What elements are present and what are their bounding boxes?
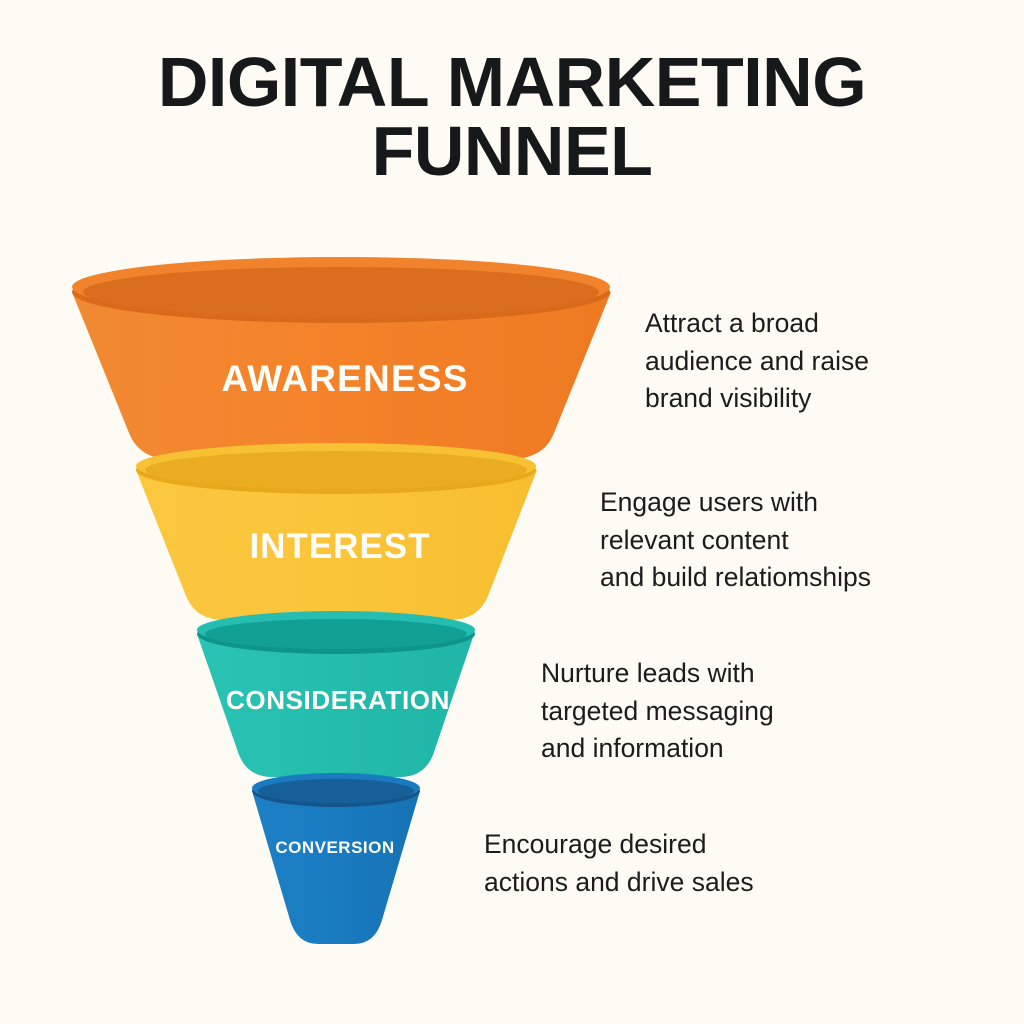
funnel-description-awareness: Attract a broad audience and raise brand… bbox=[645, 305, 975, 418]
description-line: and information bbox=[541, 730, 891, 768]
funnel-stage-consideration[interactable] bbox=[197, 611, 475, 777]
funnel-description-consideration: Nurture leads with targeted messaging an… bbox=[541, 655, 891, 768]
funnel-description-interest: Engage users with relevant content and b… bbox=[600, 484, 950, 597]
funnel-stage-conversion-cone bbox=[252, 791, 420, 944]
description-line: Attract a broad bbox=[645, 305, 975, 343]
funnel-stage-awareness-rim-inner bbox=[83, 267, 599, 317]
funnel-description-conversion: Encourage desired actions and drive sale… bbox=[484, 826, 844, 901]
funnel-stage-conversion[interactable] bbox=[252, 773, 420, 944]
description-line: audience and raise bbox=[645, 343, 975, 381]
description-line: relevant content bbox=[600, 522, 950, 560]
funnel-stage-interest[interactable] bbox=[136, 443, 537, 620]
description-line: targeted messaging bbox=[541, 693, 891, 731]
description-line: brand visibility bbox=[645, 380, 975, 418]
funnel-stage-conversion-rim-inner bbox=[258, 779, 414, 803]
description-line: Nurture leads with bbox=[541, 655, 891, 693]
description-line: and build relatiomships bbox=[600, 559, 950, 597]
description-line: Encourage desired bbox=[484, 826, 844, 864]
funnel-stage-interest-rim-inner bbox=[145, 451, 527, 489]
funnel-stage-consideration-cone bbox=[197, 634, 474, 777]
funnel-stage-consideration-rim-inner bbox=[205, 619, 467, 649]
description-line: actions and drive sales bbox=[484, 864, 844, 902]
infographic-canvas: DIGITAL MARKETING FUNNEL bbox=[0, 0, 1024, 1024]
description-line: Engage users with bbox=[600, 484, 950, 522]
